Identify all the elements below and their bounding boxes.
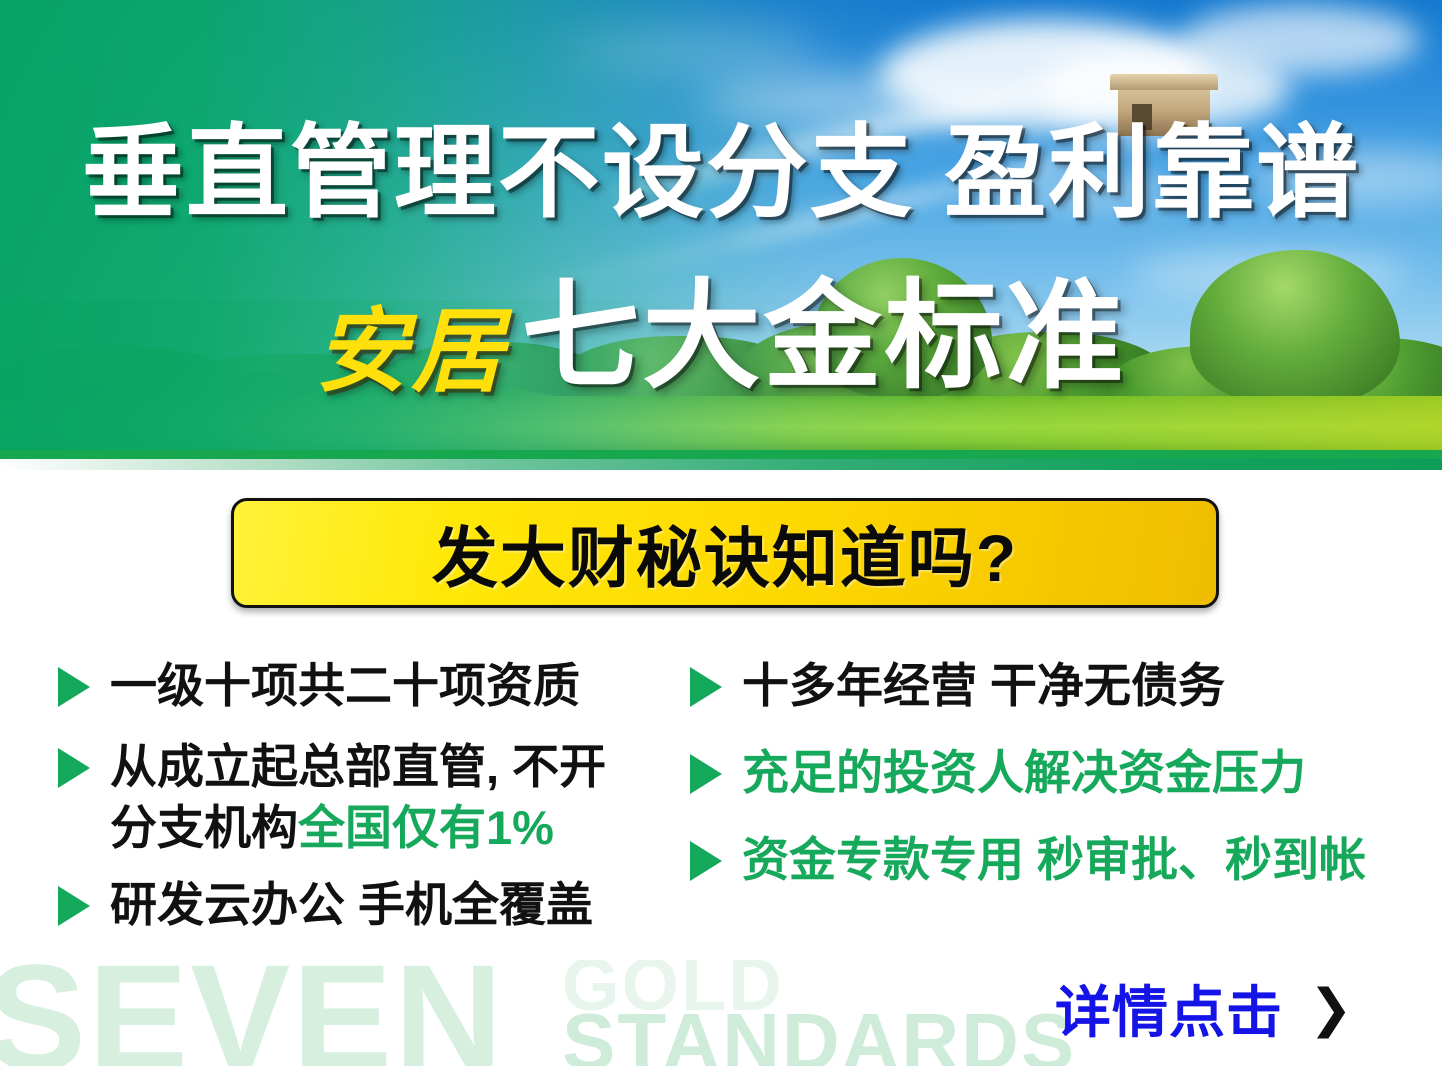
feature-line: 分支机构: [110, 801, 298, 854]
feature-item: 十多年经营 干净无债务: [690, 655, 1420, 716]
green-divider-bar: [0, 450, 1442, 459]
cta-label: 详情点击: [1055, 968, 1283, 1049]
feature-item: 资金专款专用 秒审批、秒到帐: [690, 829, 1420, 890]
feature-line: 充足的投资人解决资金压力: [742, 746, 1306, 799]
feature-column-right: 十多年经营 干净无债务 充足的投资人解决资金压力 资金专款专用 秒审批、秒到帐: [690, 655, 1420, 912]
feature-list: 一级十项共二十项资质 从成立起总部直管, 不开 分支机构全国仅有1% 研发云办公…: [0, 655, 1442, 985]
chevron-right-icon: ❯: [1309, 983, 1353, 1035]
feature-text: 一级十项共二十项资质: [110, 655, 580, 716]
feature-line: 一级十项共二十项资质: [110, 659, 580, 712]
feature-text: 从成立起总部直管, 不开 分支机构全国仅有1%: [110, 736, 606, 858]
hero-headline-primary: 垂直管理不设分支 盈利靠谱: [0, 118, 1442, 228]
hero-banner: 垂直管理不设分支 盈利靠谱 安居七大金标准: [0, 0, 1442, 470]
hero-headline-secondary: 安居七大金标准: [0, 278, 1442, 397]
feature-item: 从成立起总部直管, 不开 分支机构全国仅有1%: [58, 736, 698, 858]
feature-line: 十多年经营 干净无债务: [742, 659, 1225, 712]
feature-column-left: 一级十项共二十项资质 从成立起总部直管, 不开 分支机构全国仅有1% 研发云办公…: [58, 655, 698, 957]
triangle-bullet-icon: [690, 667, 722, 707]
feature-highlight: 全国仅有1%: [298, 801, 554, 854]
details-cta-link[interactable]: 详情点击 ❯: [1055, 968, 1353, 1049]
feature-line: 从成立起总部直管, 不开: [110, 740, 606, 793]
feature-line: 资金专款专用 秒审批、秒到帐: [742, 833, 1366, 886]
hero-headline-main: 七大金标准: [522, 271, 1127, 403]
triangle-bullet-icon: [690, 754, 722, 794]
feature-text: 资金专款专用 秒审批、秒到帐: [742, 829, 1366, 890]
feature-text: 十多年经营 干净无债务: [742, 655, 1225, 716]
triangle-bullet-icon: [690, 841, 722, 881]
triangle-bullet-icon: [58, 748, 90, 788]
feature-item: 充足的投资人解决资金压力: [690, 742, 1420, 803]
feature-text: 充足的投资人解决资金压力: [742, 742, 1306, 803]
gradient-divider-band: [0, 459, 1442, 470]
headline-callout-banner[interactable]: 发大财秘诀知道吗?: [231, 498, 1219, 608]
feature-item: 一级十项共二十项资质: [58, 655, 698, 716]
triangle-bullet-icon: [58, 667, 90, 707]
hero-brand-script: 安居: [315, 297, 507, 405]
triangle-bullet-icon: [58, 886, 90, 926]
callout-banner-text: 发大财秘诀知道吗?: [432, 505, 1018, 601]
feature-line: 研发云办公 手机全覆盖: [110, 878, 593, 931]
feature-item: 研发云办公 手机全覆盖: [58, 874, 698, 935]
watermark-standards: STANDARDS: [562, 1002, 1076, 1066]
feature-text: 研发云办公 手机全覆盖: [110, 874, 593, 935]
